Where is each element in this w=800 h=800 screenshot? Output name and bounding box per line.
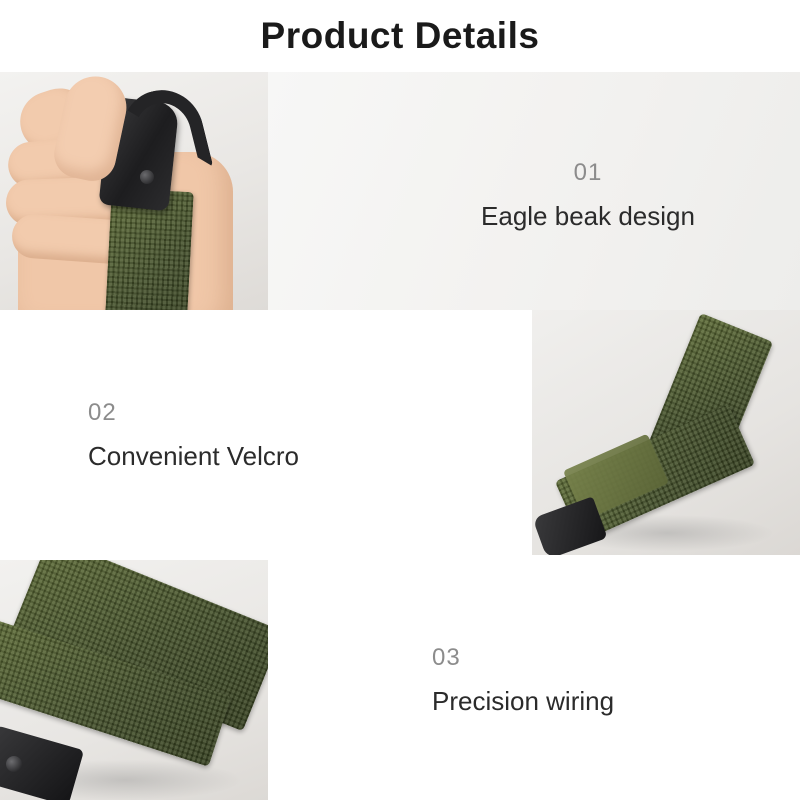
product-details-page: Product Details 01 Eagle beak design 02 … xyxy=(0,0,800,800)
feature-number-01: 01 xyxy=(574,159,603,187)
feature-number-02: 02 xyxy=(88,399,117,427)
page-title: Product Details xyxy=(261,15,540,57)
feature-image-01 xyxy=(0,72,268,310)
feature-number-03: 03 xyxy=(432,644,461,672)
feature-label-03: Precision wiring xyxy=(432,686,614,717)
feature-caption-01: 01 Eagle beak design xyxy=(418,130,758,260)
feature-image-02 xyxy=(532,310,800,555)
feature-caption-02: 02 Convenient Velcro xyxy=(88,370,418,500)
feature-label-01: Eagle beak design xyxy=(481,201,695,232)
feature-image-03 xyxy=(0,560,268,800)
feature-caption-03: 03 Precision wiring xyxy=(432,615,762,745)
page-header: Product Details xyxy=(0,0,800,72)
clip-screw-03 xyxy=(6,756,22,772)
hook-screw xyxy=(140,170,154,184)
feature-label-02: Convenient Velcro xyxy=(88,441,299,472)
